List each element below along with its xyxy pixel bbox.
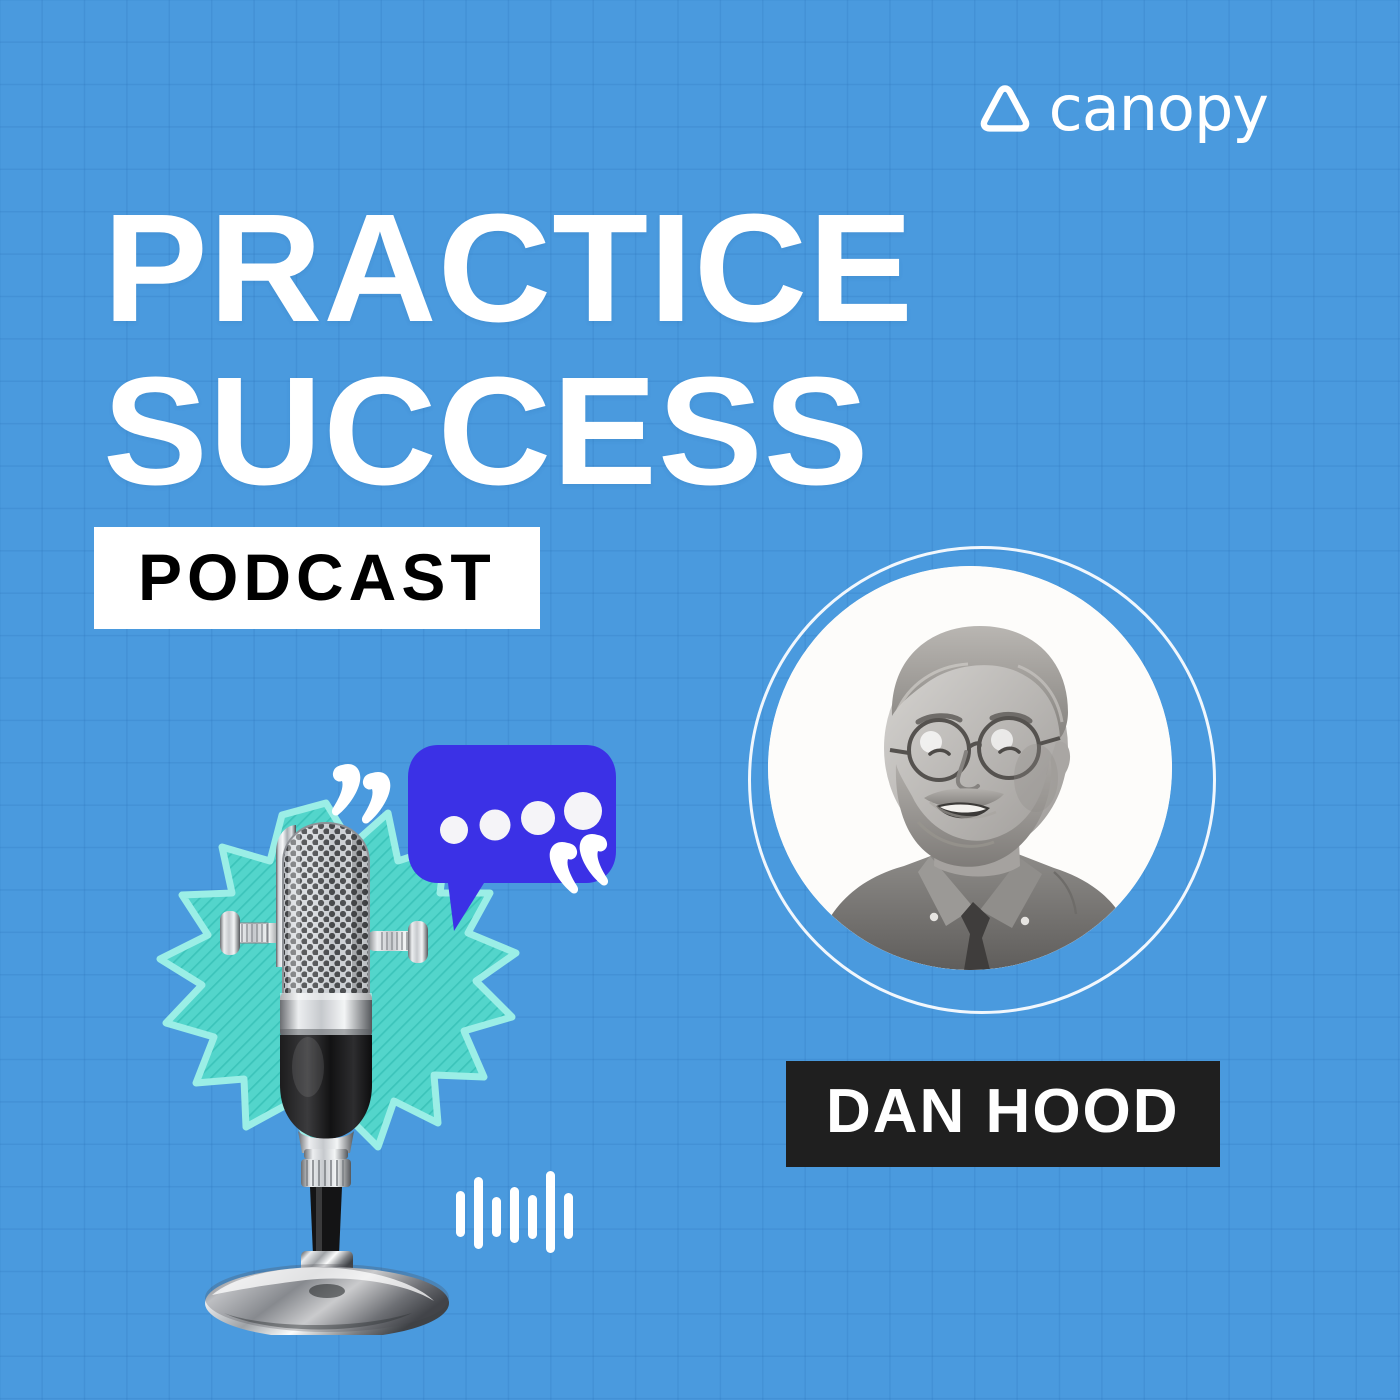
title-line-2: SUCCESS bbox=[103, 359, 939, 504]
canopy-wordmark: canopy bbox=[1049, 78, 1268, 140]
status-badge: DAN HOOD bbox=[786, 1061, 1220, 1167]
canopy-logo: canopy bbox=[977, 78, 1268, 140]
microphone-illustration bbox=[120, 735, 660, 1335]
page-title: PRACTICE SUCCESS bbox=[103, 196, 923, 504]
avatar bbox=[768, 566, 1172, 970]
bubble-dot-2 bbox=[480, 810, 511, 841]
podcast-badge: PODCAST bbox=[94, 527, 540, 629]
waveform-icon bbox=[456, 1171, 573, 1253]
title-line-1: PRACTICE bbox=[103, 196, 939, 341]
bubble-dot-3 bbox=[521, 801, 555, 835]
canopy-triangle-icon bbox=[977, 81, 1033, 137]
bubble-dot-4 bbox=[564, 792, 602, 830]
guest-name: DAN HOOD bbox=[826, 1081, 1180, 1143]
bubble-dot-1 bbox=[440, 816, 468, 844]
podcast-cover-art: canopy PRACTICE SUCCESS PODCAST bbox=[0, 0, 1400, 1400]
guest-portrait bbox=[742, 540, 1222, 1020]
podcast-badge-label: PODCAST bbox=[138, 544, 496, 610]
